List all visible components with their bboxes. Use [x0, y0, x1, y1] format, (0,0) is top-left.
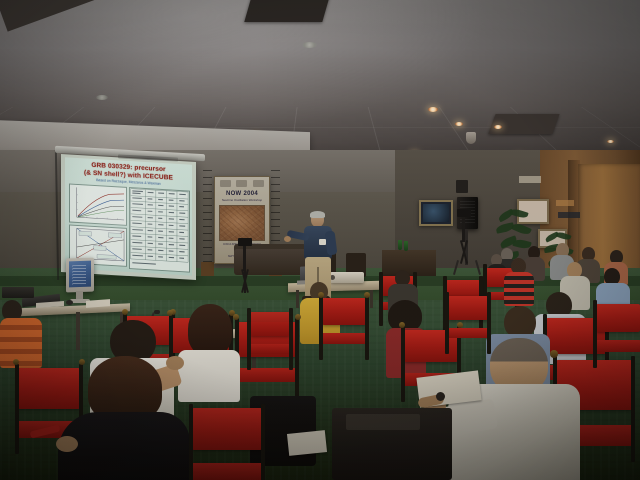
smoke-detector-icon: [96, 95, 108, 100]
poster-title: NOW 2004: [226, 191, 258, 197]
person-head: [188, 304, 232, 356]
poster-logos: [217, 179, 267, 188]
chair-post: [319, 294, 323, 360]
poster-artwork: [219, 205, 265, 241]
chair-seat: [190, 463, 264, 480]
ceiling-vent-icon: [244, 0, 329, 22]
data-table-svg: [130, 188, 189, 272]
chair-back: [192, 408, 262, 450]
plot-top-svg: [70, 184, 126, 225]
camera-tripod: [236, 243, 254, 291]
poster-subtitle: Neutrino Oscillation Workshop: [222, 198, 262, 202]
water-bottle: [404, 241, 408, 251]
ceiling-pendant-icon: [466, 132, 476, 144]
lcd-monitor: [66, 258, 94, 293]
chair-post: [365, 294, 369, 360]
ceiling-spotlight-icon: [428, 107, 438, 112]
wall-plate: [519, 176, 541, 183]
sponsor-logo-icon: [253, 180, 264, 187]
table-leg: [370, 290, 373, 308]
ceiling-spotlight-icon: [607, 140, 614, 143]
chair-post: [261, 404, 265, 480]
wristwatch-icon: [436, 392, 445, 401]
av-equipment-box: [346, 414, 420, 430]
chair-back: [448, 296, 488, 320]
chair-post: [15, 364, 19, 454]
audience-person: [0, 300, 42, 366]
audience-chair[interactable]: [596, 304, 640, 352]
sponsor-logo-icon: [220, 180, 231, 187]
chair-seat: [321, 333, 368, 344]
picture-art: [423, 204, 449, 222]
wall-speaker-icon: [456, 180, 468, 193]
person-torso: [0, 318, 42, 368]
presenter-right-arm: [325, 230, 338, 255]
audience-chair[interactable]: [192, 408, 262, 480]
chair-seat: [447, 328, 489, 338]
chair-knob: [295, 314, 301, 320]
chair-back: [596, 304, 640, 332]
camera-head-icon: [238, 238, 252, 246]
monitor-screen: [69, 261, 91, 288]
trellis-base: [201, 262, 214, 276]
audience-chair[interactable]: [250, 312, 290, 354]
slide-plot-top: [69, 183, 127, 226]
mouse[interactable]: [66, 300, 73, 305]
chair-post: [289, 308, 293, 370]
audience-chair[interactable]: [448, 296, 488, 338]
chair-post: [401, 326, 405, 402]
presenter-hair: [310, 211, 325, 218]
person-torso: [504, 272, 534, 306]
chair-post: [593, 300, 597, 368]
chair-seat: [249, 344, 291, 354]
camera-tripod: [455, 214, 475, 266]
slide-left-column: [69, 183, 127, 267]
audience-person: [58, 356, 190, 480]
audience-person: [430, 338, 580, 480]
wooden-trellis-left: [203, 170, 212, 274]
chair-knob: [364, 292, 370, 298]
person-torso: [58, 412, 190, 480]
lecture-hall-photo: GRB 030329: precursor (& SN shell?) with…: [0, 0, 640, 480]
microphone-head-icon: [154, 310, 160, 314]
audience-person: [504, 258, 534, 306]
chair-knob: [399, 322, 405, 328]
sponsor-logo-icon: [236, 180, 247, 187]
person-hand: [56, 436, 78, 452]
slide-right-column: [129, 187, 188, 271]
wall-plate: [558, 212, 580, 218]
presenter-name-badge: [319, 239, 326, 245]
ceiling-spotlight-icon: [494, 125, 502, 129]
chair-post: [189, 404, 193, 480]
chair-post: [247, 308, 251, 370]
notes-paper: [287, 430, 327, 456]
presenter-left-hand: [284, 236, 291, 242]
chair-knob: [13, 359, 19, 365]
framed-picture: [419, 200, 453, 226]
camera-head-icon: [457, 209, 471, 217]
chair-back: [250, 312, 290, 336]
chair-back: [322, 298, 366, 325]
chair-post: [295, 318, 299, 398]
chair-knob: [122, 309, 128, 315]
audience-chair[interactable]: [322, 298, 366, 344]
water-bottle: [398, 240, 402, 250]
chair-post: [445, 292, 449, 354]
smoke-detector-icon: [302, 42, 317, 48]
av-equipment-box: [2, 287, 34, 298]
chair-seat: [595, 340, 640, 352]
slide-data-table: [129, 187, 190, 273]
chair-post: [487, 292, 491, 354]
table-leg: [76, 312, 80, 350]
ceiling-vent-icon: [488, 114, 559, 134]
chair-knob: [318, 292, 324, 298]
ceiling-spotlight-icon: [455, 122, 463, 126]
wall-plate: [556, 200, 574, 206]
chair-post: [631, 356, 635, 462]
